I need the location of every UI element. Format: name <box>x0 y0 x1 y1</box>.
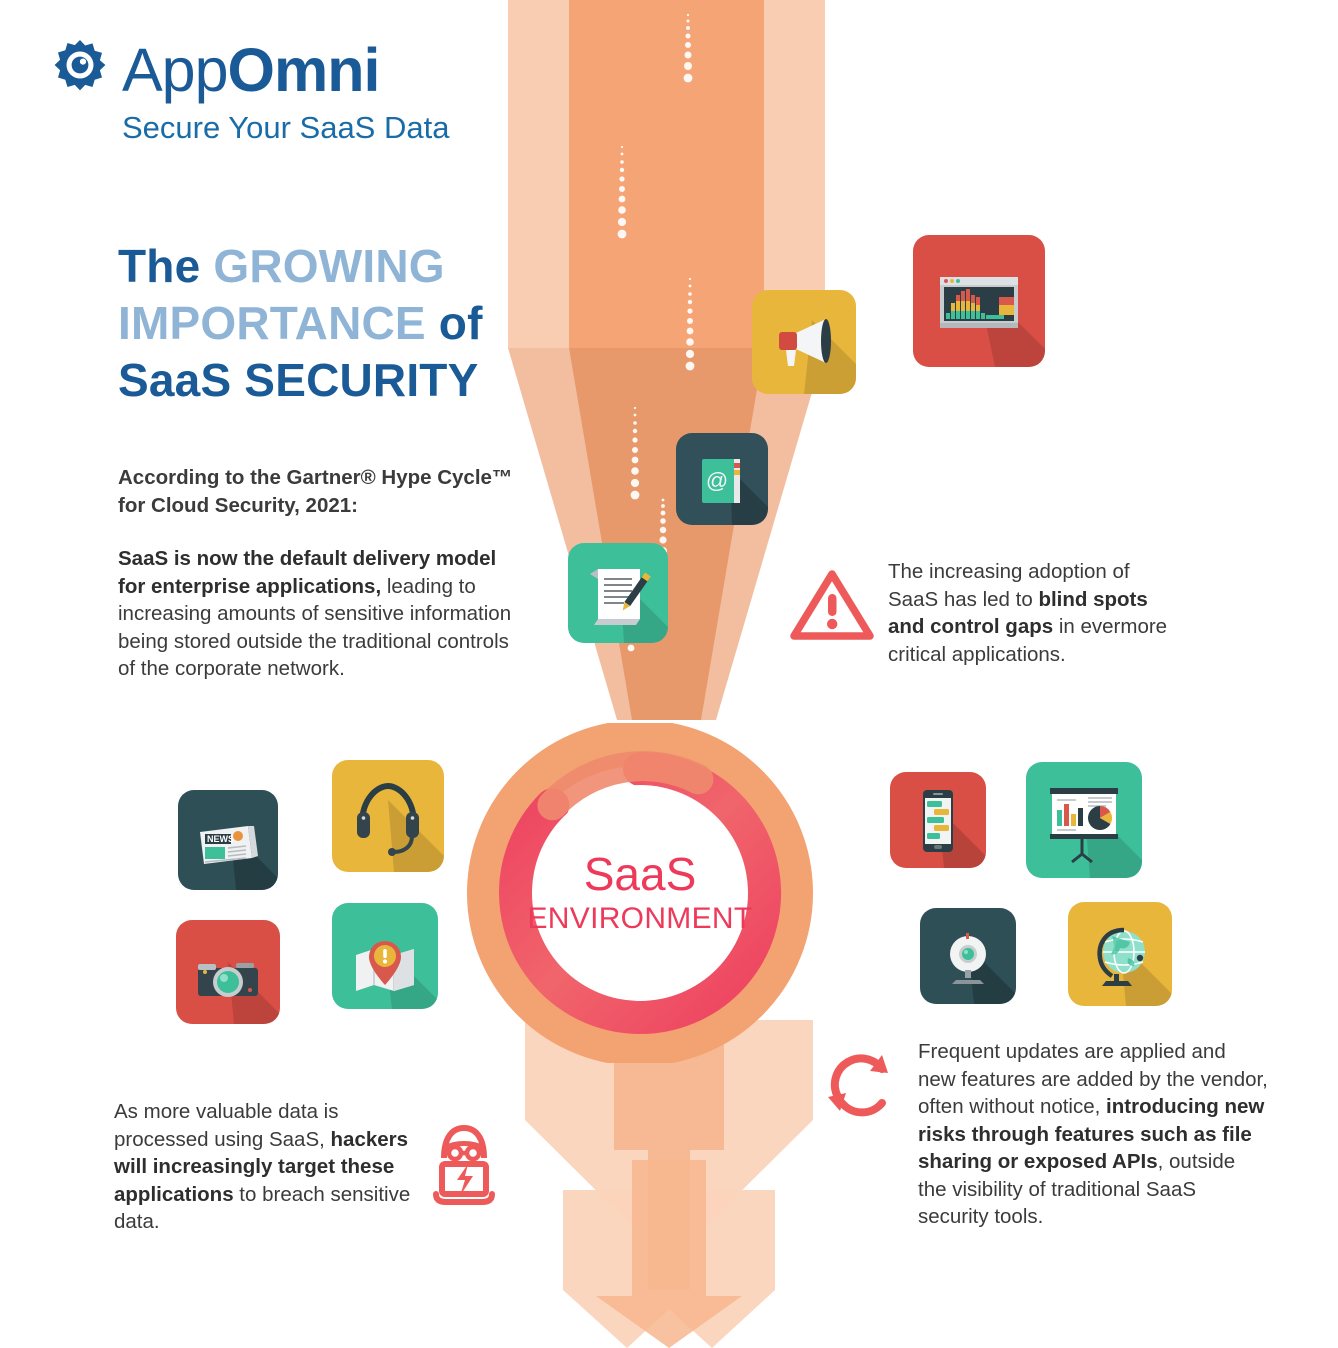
tile-news[interactable]: NEWS <box>178 790 278 890</box>
svg-text:NEWS: NEWS <box>207 834 234 844</box>
gartner-paragraph: SaaS is now the default delivery model f… <box>118 545 518 683</box>
tile-chat-phone[interactable] <box>890 772 986 868</box>
infographic-canvas: SaaS ENVIRONMENT AppOmni Secure Your Saa… <box>0 0 1338 1348</box>
camera-icon <box>176 920 280 1024</box>
tile-webcam[interactable] <box>920 908 1016 1004</box>
tile-camera[interactable] <box>176 920 280 1024</box>
refresh-cycle-icon <box>818 1045 902 1121</box>
newspaper-icon: NEWS <box>178 790 278 890</box>
presentation-chart-icon <box>1026 762 1142 878</box>
tile-megaphone[interactable] <box>752 290 856 394</box>
phone-chat-icon <box>890 772 986 868</box>
tile-document[interactable] <box>568 543 668 643</box>
tile-globe[interactable] <box>1068 902 1172 1006</box>
gartner-heading: According to the Gartner® Hype Cycle™ fo… <box>118 464 518 519</box>
gartner-copy-block: According to the Gartner® Hype Cycle™ fo… <box>118 464 518 683</box>
updates-paragraph: Frequent updates are applied and new fea… <box>918 1038 1268 1231</box>
headline-saas-security: SaaS SECURITY <box>118 354 479 406</box>
headline-of: of <box>426 297 483 349</box>
tile-headset[interactable] <box>332 760 444 872</box>
gear-eye-icon <box>48 38 112 102</box>
analytics-window-icon <box>913 235 1045 367</box>
logo-wordmark: AppOmni <box>122 40 379 101</box>
svg-text:@: @ <box>706 468 728 493</box>
tile-analytics[interactable] <box>913 235 1045 367</box>
hackers-pre: As more valuable data is processed using… <box>114 1100 338 1151</box>
tile-email-book[interactable]: @ <box>676 433 768 525</box>
hacker-laptop-icon <box>424 1114 504 1208</box>
page-title: The GROWING IMPORTANCE of SaaS SECURITY <box>118 238 588 409</box>
webcam-icon <box>920 908 1016 1004</box>
headline-importance: IMPORTANCE <box>118 297 426 349</box>
blindspots-copy-block: The increasing adoption of SaaS has led … <box>888 558 1168 668</box>
logo-app: App <box>122 36 228 104</box>
blindspots-paragraph: The increasing adoption of SaaS has led … <box>888 558 1168 668</box>
tile-presentation[interactable] <box>1026 762 1142 878</box>
saas-environment-circle <box>466 723 814 1063</box>
updates-copy-block: Frequent updates are applied and new fea… <box>918 1038 1268 1231</box>
tile-map[interactable] <box>332 903 438 1009</box>
globe-stand-icon <box>1068 902 1172 1006</box>
document-pen-icon <box>568 543 668 643</box>
headset-icon <box>332 760 444 872</box>
logo-omni: Omni <box>228 36 380 104</box>
headline-the: The <box>118 240 213 292</box>
warning-triangle-icon <box>790 568 874 642</box>
appomni-logo[interactable]: AppOmni Secure Your SaaS Data <box>48 38 449 146</box>
logo-tagline: Secure Your SaaS Data <box>122 110 449 146</box>
map-pin-icon <box>332 903 438 1009</box>
megaphone-icon <box>752 290 856 394</box>
email-at-book-icon: @ <box>676 433 768 525</box>
headline-growing: GROWING <box>213 240 444 292</box>
hackers-paragraph: As more valuable data is processed using… <box>114 1098 414 1236</box>
hackers-copy-block: As more valuable data is processed using… <box>114 1098 414 1236</box>
